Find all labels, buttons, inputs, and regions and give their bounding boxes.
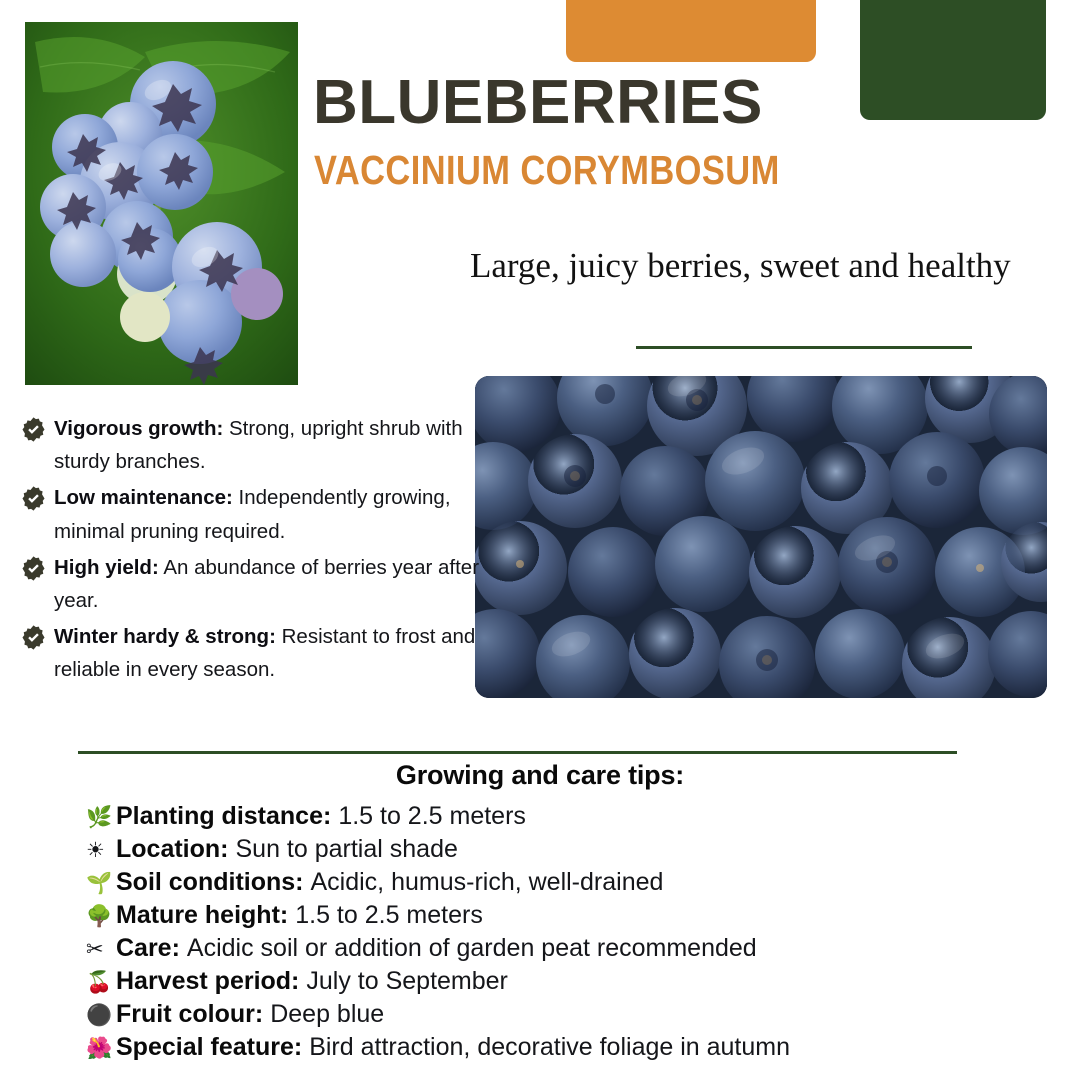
list-item: Winter hardy & strong: Resistant to fros…	[20, 620, 480, 686]
sun-icon: ☀	[86, 834, 116, 867]
tip-label: Special feature:	[116, 1031, 302, 1064]
list-item: High yield: An abundance of berries year…	[20, 551, 480, 617]
tree-icon: 🌳	[86, 900, 116, 933]
check-badge-icon	[20, 485, 47, 512]
feature-label: Low maintenance:	[54, 486, 233, 509]
check-badge-icon	[20, 416, 47, 443]
orange-decorative-block	[566, 0, 816, 62]
tip-value: Bird attraction, decorative foliage in a…	[309, 1031, 790, 1064]
herb-icon: 🌿	[86, 801, 116, 834]
feature-label: Winter hardy & strong:	[54, 625, 276, 648]
list-item: ☀ Location: Sun to partial shade	[86, 833, 1066, 866]
tip-label: Planting distance:	[116, 800, 331, 833]
feature-list: Vigorous growth: Strong, upright shrub w…	[20, 412, 480, 690]
feature-text: Low maintenance: Independently growing, …	[54, 481, 480, 547]
hero-blueberry-photo	[25, 22, 298, 385]
berries-closeup-photo	[475, 376, 1047, 698]
divider-top	[636, 346, 972, 349]
list-item: 🍒 Harvest period: July to September	[86, 965, 1066, 998]
list-item: 🌺 Special feature: Bird attraction, deco…	[86, 1031, 1066, 1064]
divider-bottom	[78, 751, 957, 754]
tip-value: July to September	[306, 965, 508, 998]
tagline: Large, juicy berries, sweet and healthy	[470, 245, 1070, 287]
page-title: BLUEBERRIES	[313, 72, 763, 134]
green-decorative-block	[860, 0, 1046, 120]
tip-value: 1.5 to 2.5 meters	[338, 800, 526, 833]
list-item: 🌿 Planting distance: 1.5 to 2.5 meters	[86, 800, 1066, 833]
list-item: 🌳 Mature height: 1.5 to 2.5 meters	[86, 899, 1066, 932]
tip-value: Deep blue	[270, 998, 384, 1031]
cherries-icon: 🍒	[86, 966, 116, 999]
tip-label: Mature height:	[116, 899, 288, 932]
seedling-icon: 🌱	[86, 867, 116, 900]
check-badge-icon	[20, 624, 47, 651]
list-item: ⚫ Fruit colour: Deep blue	[86, 998, 1066, 1031]
tip-value: Acidic soil or addition of garden peat r…	[187, 932, 757, 965]
feature-text: High yield: An abundance of berries year…	[54, 551, 480, 617]
feature-text: Winter hardy & strong: Resistant to fros…	[54, 620, 480, 686]
list-item: Low maintenance: Independently growing, …	[20, 481, 480, 547]
scissors-icon: ✂	[86, 933, 116, 966]
tip-label: Care:	[116, 932, 180, 965]
tip-label: Fruit colour:	[116, 998, 263, 1031]
tip-value: Acidic, humus-rich, well-drained	[311, 866, 664, 899]
list-item: 🌱 Soil conditions: Acidic, humus-rich, w…	[86, 866, 1066, 899]
tips-heading: Growing and care tips:	[0, 760, 1080, 791]
feature-label: Vigorous growth:	[54, 417, 223, 440]
page-subtitle: VACCINIUM CORYMBOSUM	[314, 150, 780, 191]
tip-label: Soil conditions:	[116, 866, 304, 899]
tip-label: Harvest period:	[116, 965, 299, 998]
list-item: Vigorous growth: Strong, upright shrub w…	[20, 412, 480, 478]
tip-value: 1.5 to 2.5 meters	[295, 899, 483, 932]
tip-label: Location:	[116, 833, 229, 866]
tips-list: 🌿 Planting distance: 1.5 to 2.5 meters ☀…	[86, 800, 1066, 1064]
check-badge-icon	[20, 555, 47, 582]
hibiscus-icon: 🌺	[86, 1032, 116, 1065]
list-item: ✂ Care: Acidic soil or addition of garde…	[86, 932, 1066, 965]
feature-label: High yield:	[54, 556, 159, 579]
feature-text: Vigorous growth: Strong, upright shrub w…	[54, 412, 480, 478]
tip-value: Sun to partial shade	[236, 833, 458, 866]
dark-circle-icon: ⚫	[86, 999, 116, 1032]
